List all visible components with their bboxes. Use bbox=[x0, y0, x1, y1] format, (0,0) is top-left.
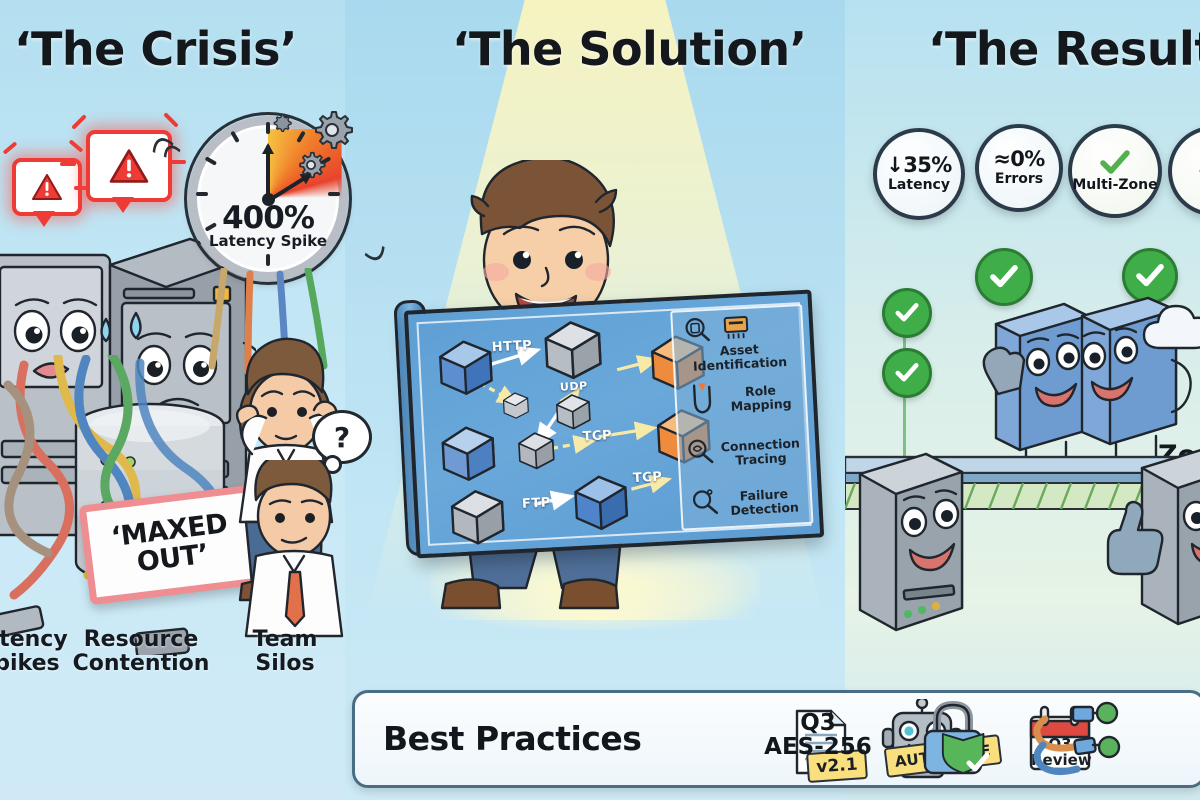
infographic-canvas: ‘The Crisis’ ‘The Solution’ ‘The Results… bbox=[0, 0, 1200, 800]
gear-icon-tiny bbox=[272, 112, 292, 132]
cables-icon bbox=[1031, 697, 1121, 777]
cube-gray-4 bbox=[445, 486, 510, 547]
magnifier-alert-icon bbox=[689, 487, 721, 519]
cube-gray-small bbox=[500, 390, 531, 420]
check-icon bbox=[1100, 150, 1130, 176]
server-rack-icon bbox=[720, 311, 752, 343]
alert-bubble-small bbox=[12, 158, 82, 216]
gear-icon-small bbox=[296, 150, 326, 180]
spark-line bbox=[60, 162, 76, 166]
crisis-label-resource: ResourceContention bbox=[66, 628, 216, 676]
legend-role-mapping: RoleMapping bbox=[718, 382, 803, 414]
badge-errors: ≈0% Errors bbox=[975, 124, 1063, 212]
happy-server-gray-left bbox=[846, 438, 976, 638]
encryption-label: Q3AES-256 bbox=[753, 711, 883, 759]
flow-label-http: HTTP bbox=[491, 338, 532, 355]
magnifier-link-icon bbox=[685, 437, 717, 469]
thumbs-up-icon bbox=[1100, 500, 1170, 580]
blueprint-legend: AssetIdentification RoleMapping Connecti… bbox=[670, 304, 813, 531]
panel-title-results: ‘The Results’ bbox=[928, 22, 1200, 76]
crisis-label-silos: TeamSilos bbox=[230, 628, 340, 676]
badge-multizone-label: Multi-Zone bbox=[1072, 178, 1157, 193]
cube-gray-3 bbox=[514, 429, 558, 471]
panel-title-solution: ‘The Solution’ bbox=[452, 22, 807, 76]
cloud-icon bbox=[1138, 300, 1200, 364]
cube-gray-2 bbox=[552, 391, 594, 431]
cube-blue bbox=[433, 336, 498, 397]
question-bubble: ? bbox=[312, 410, 372, 464]
crisis-label-latency: LatencySpikes bbox=[0, 628, 74, 676]
legend-asset-identification: AssetIdentification bbox=[678, 340, 801, 374]
status-check-1 bbox=[882, 288, 932, 338]
badge-latency-value: ↓35% bbox=[886, 155, 951, 176]
gear-icon bbox=[310, 108, 354, 152]
hand-pointer-icon bbox=[686, 381, 718, 417]
flow-label-ftp: FTP bbox=[522, 495, 552, 511]
badge-latency-label: Latency bbox=[888, 178, 950, 193]
badge-multizone: Multi-Zone bbox=[1068, 124, 1162, 218]
status-check-2 bbox=[882, 348, 932, 398]
flow-label-tcp-2: TCP bbox=[632, 470, 662, 487]
flow-label-udp: UDP bbox=[560, 379, 588, 393]
lock-shield-icon bbox=[911, 697, 997, 779]
legend-failure-detection: FailureDetection bbox=[720, 486, 809, 519]
legend-connection-tracing: ConnectionTracing bbox=[715, 436, 806, 469]
badge-errors-value: ≈0% bbox=[993, 149, 1044, 170]
cube-blue-2 bbox=[436, 422, 501, 483]
warning-triangle-icon bbox=[31, 173, 63, 201]
warning-triangle-icon bbox=[108, 148, 150, 184]
panel-title-crisis: ‘The Crisis’ bbox=[14, 22, 297, 76]
blueprint-board: HTTP UDP TCP TCP FTP AssetIdentification bbox=[404, 289, 824, 558]
badge-errors-label: Errors bbox=[995, 172, 1043, 187]
badge-latency: ↓35% Latency bbox=[873, 128, 965, 220]
cube-gray-1 bbox=[538, 316, 607, 381]
best-practices-title: Best Practices bbox=[383, 719, 641, 758]
best-practices-bar: Best Practices v2.1 AUTOMATE bbox=[352, 690, 1200, 788]
magnifier-server-icon bbox=[682, 315, 711, 344]
cube-blue-3 bbox=[569, 471, 634, 532]
flow-label-tcp-1: TCP bbox=[582, 428, 612, 445]
